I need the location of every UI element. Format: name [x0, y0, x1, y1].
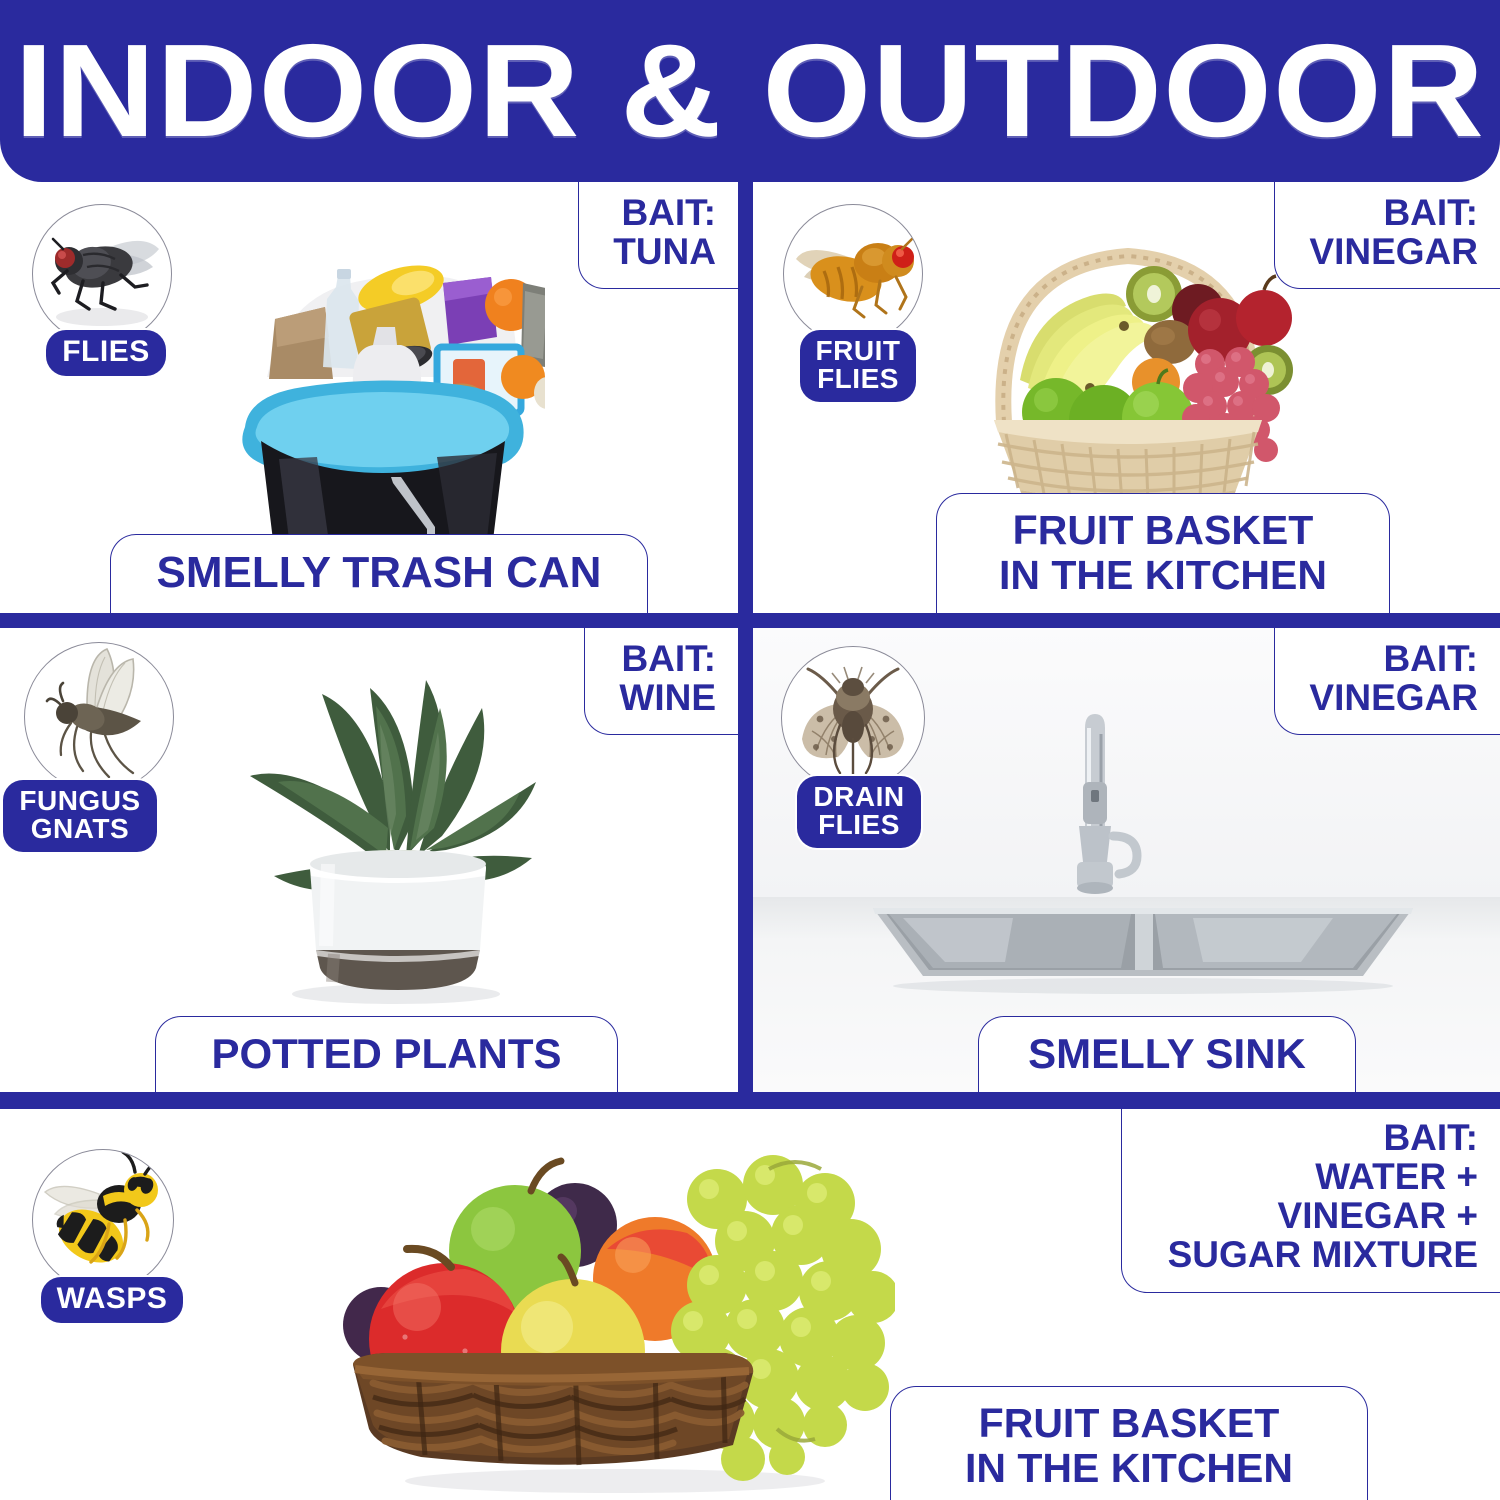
bait-box-water-vinegar-sugar: BAIT: WATER + VINEGAR + SUGAR MIXTURE — [1121, 1109, 1500, 1293]
panel-fruit-basket-kitchen-top: FRUIT FLIES BAIT: VINEGAR FRUIT BASKET I… — [753, 182, 1500, 613]
pest-marker-drain-flies: DRAIN FLIES — [781, 646, 937, 848]
fungus-gnat-icon — [24, 642, 174, 792]
caption-smelly-trash-can: SMELLY TRASH CAN — [110, 534, 648, 613]
pest-marker-fungus-gnats: FUNGUS GNATS — [0, 642, 178, 852]
caption-potted-plants: POTTED PLANTS — [155, 1016, 618, 1092]
caption-fruit-basket-top: FRUIT BASKET IN THE KITCHEN — [936, 493, 1390, 613]
panel-smelly-sink: DRAIN FLIES BAIT: VINEGAR SMELLY SINK — [753, 628, 1500, 1092]
stainless-sink-illustration — [863, 686, 1423, 1016]
panel-fruit-basket-kitchen-bottom: WASPS BAIT: WATER + VINEGAR + SUGAR MIXT… — [0, 1109, 1500, 1500]
bait-box-tuna: BAIT: TUNA — [578, 182, 738, 289]
housefly-icon — [32, 204, 172, 344]
potted-succulent-illustration — [230, 650, 560, 1010]
caption-fruit-basket-bottom: FRUIT BASKET IN THE KITCHEN — [890, 1386, 1368, 1500]
panel-smelly-trash-can: FLIES BAIT: TUNA SMELLY TRASH CAN — [0, 182, 738, 613]
bait-box-wine: BAIT: WINE — [584, 628, 738, 735]
wicker-fruit-basket-illustration — [958, 222, 1298, 522]
pest-marker-wasps: WASPS — [32, 1149, 192, 1323]
pest-label-wasps: WASPS — [41, 1277, 184, 1323]
divider-vertical-top — [738, 182, 753, 620]
header-banner: INDOOR & OUTDOOR — [0, 0, 1500, 182]
pest-label-fruit-flies: FRUIT FLIES — [800, 330, 917, 402]
trash-can-illustration — [205, 227, 545, 582]
wasp-icon — [32, 1149, 174, 1291]
drain-fly-icon — [781, 646, 925, 790]
page-title: INDOOR & OUTDOOR — [15, 25, 1486, 157]
divider-horizontal-lower — [0, 1092, 1500, 1109]
infographic-page: INDOOR & OUTDOOR — [0, 0, 1500, 1500]
panel-potted-plants: FUNGUS GNATS BAIT: WINE POTTED PLANTS — [0, 628, 738, 1092]
pest-marker-fruit-flies: FRUIT FLIES — [783, 204, 933, 402]
pest-label-drain-flies: DRAIN FLIES — [797, 776, 920, 848]
dark-wicker-fruit-basket-illustration — [325, 1129, 895, 1500]
bait-box-vinegar-bottom: BAIT: VINEGAR — [1274, 628, 1500, 735]
bait-box-vinegar-top: BAIT: VINEGAR — [1274, 182, 1500, 289]
pest-marker-flies: FLIES — [32, 204, 180, 376]
divider-horizontal-middle — [0, 613, 1500, 628]
fruit-fly-icon — [783, 204, 923, 344]
divider-vertical-bottom — [738, 628, 753, 1098]
caption-smelly-sink: SMELLY SINK — [978, 1016, 1356, 1092]
pest-label-flies: FLIES — [46, 330, 166, 376]
pest-label-fungus-gnats: FUNGUS GNATS — [3, 780, 156, 852]
